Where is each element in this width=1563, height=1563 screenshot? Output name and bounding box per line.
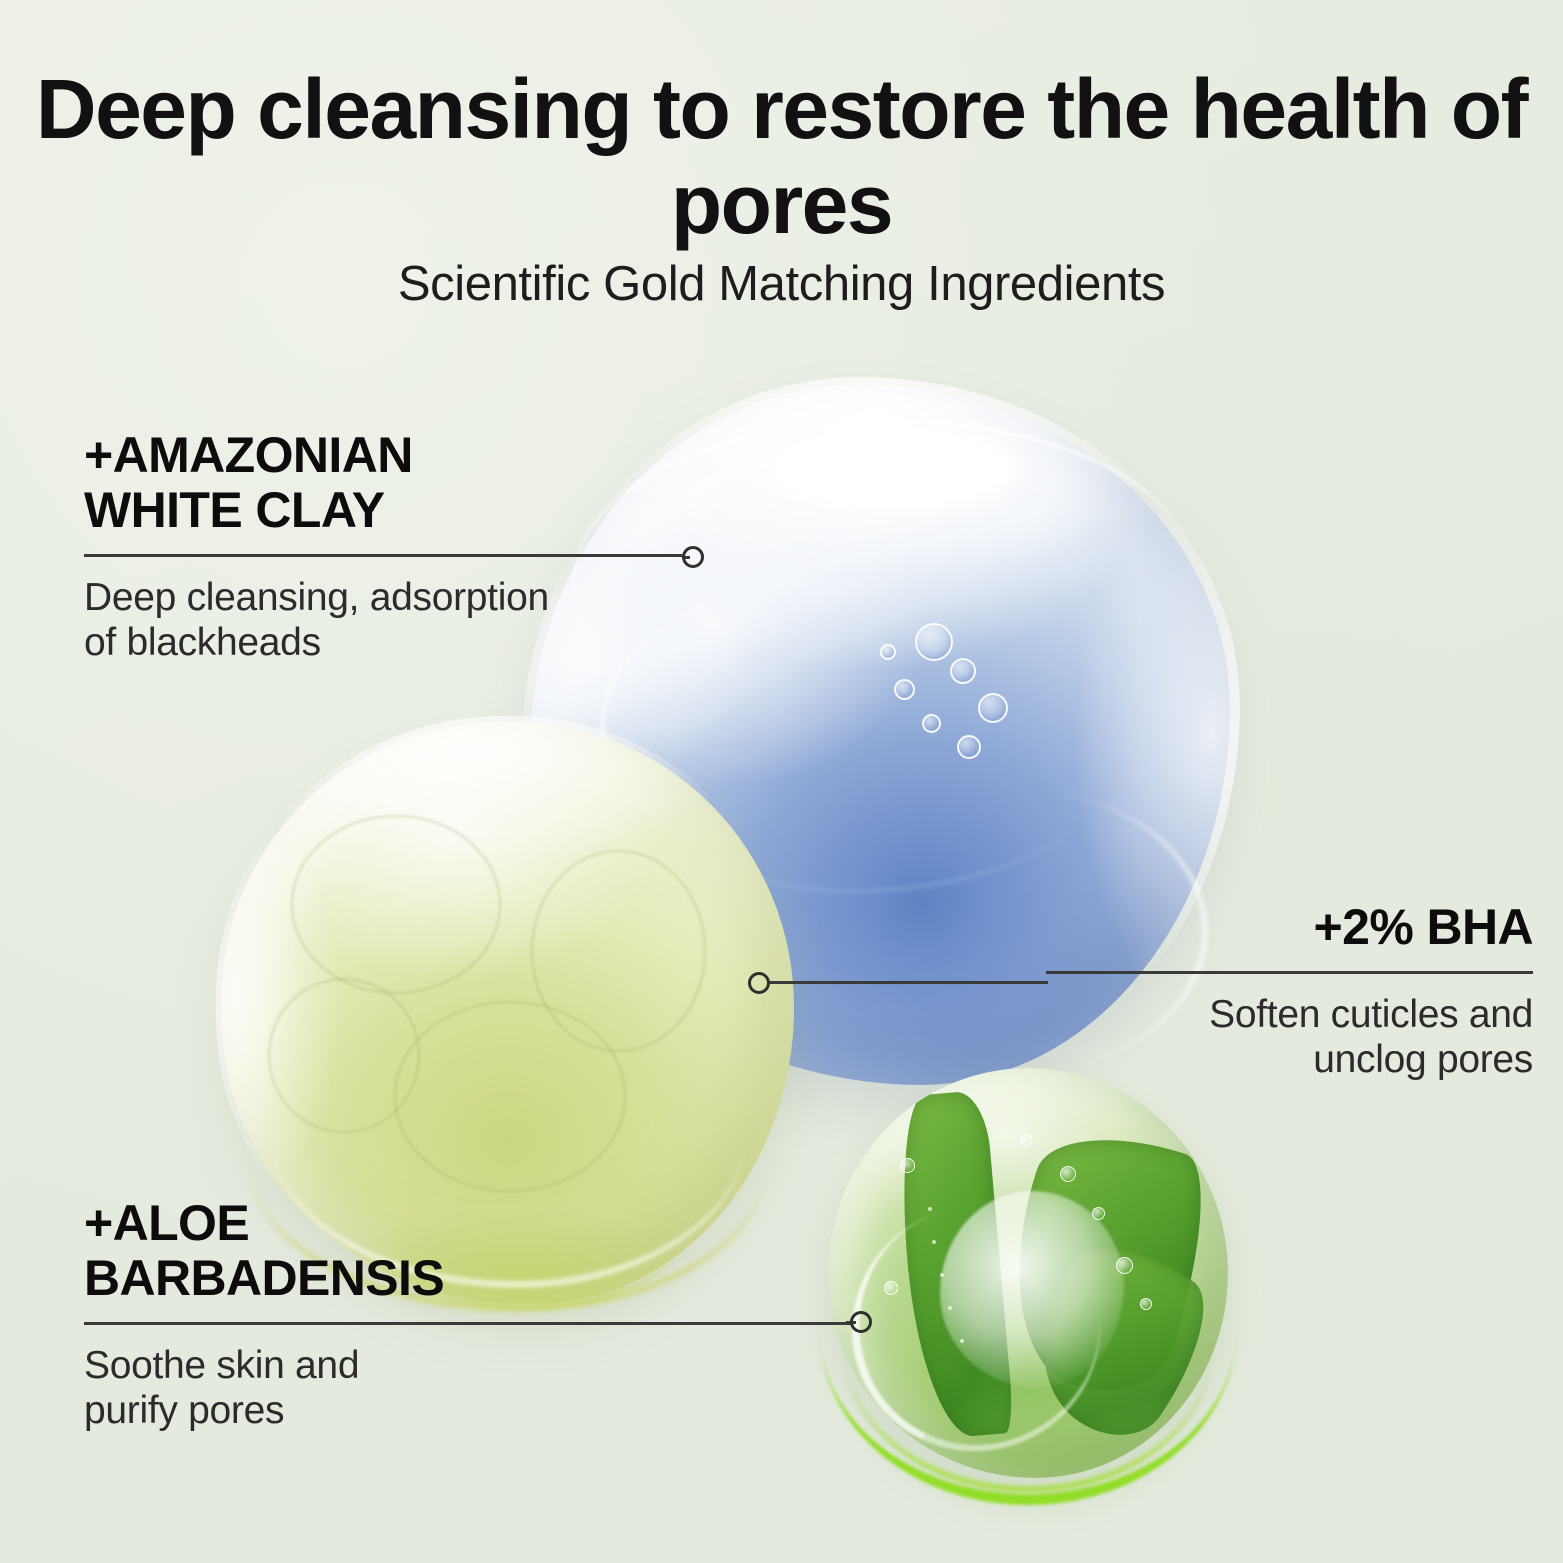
callout-heading: +2% BHA (1046, 900, 1533, 955)
bubble-icon (915, 623, 953, 661)
callout-description: Soothe skin and purify pores (84, 1343, 874, 1433)
callout-description: Soften cuticles and unclog pores (1046, 992, 1533, 1082)
callout-aloe-barbadensis: +ALOE BARBADENSIS Soothe skin and purify… (84, 1196, 874, 1433)
clay-green-blob-vein (394, 1001, 627, 1191)
ingredient-infographic: Deep cleansing to restore the health of … (0, 0, 1563, 1563)
page-title: Deep cleansing to restore the health of … (0, 62, 1563, 252)
bubble-icon (978, 693, 1008, 723)
bubble-icon (957, 735, 981, 759)
bubble-icon (1020, 1134, 1032, 1146)
page-subtitle: Scientific Gold Matching Ingredients (0, 256, 1563, 312)
aloe-leaf-serration (940, 1273, 944, 1277)
aloe-blob (828, 1068, 1228, 1478)
bubble-icon (950, 658, 976, 684)
bubble-icon (922, 714, 941, 733)
bubble-icon (894, 679, 915, 700)
clay-green-blob-vein (291, 815, 501, 994)
bubble-icon (1116, 1257, 1133, 1274)
callout-rule (84, 554, 682, 557)
callout-rule (1046, 971, 1533, 974)
bubble-icon (880, 644, 896, 660)
callout-description: Deep cleansing, adsorption of blackheads (84, 575, 704, 665)
leader-dot-bha (748, 972, 770, 994)
clay-green-blob-vein (268, 978, 421, 1133)
callout-heading: +ALOE BARBADENSIS (84, 1196, 874, 1306)
callout-amazonian-white-clay: +AMAZONIAN WHITE CLAY Deep cleansing, ad… (84, 428, 704, 665)
callout-bha: +2% BHA Soften cuticles and unclog pores (1046, 900, 1533, 1082)
leader-line-bha (768, 981, 1048, 984)
leader-dot-aloe-barbadensis (850, 1311, 872, 1333)
leader-dot-amazonian-white-clay (682, 546, 704, 568)
callout-heading: +AMAZONIAN WHITE CLAY (84, 428, 704, 538)
callout-rule (84, 1322, 852, 1325)
